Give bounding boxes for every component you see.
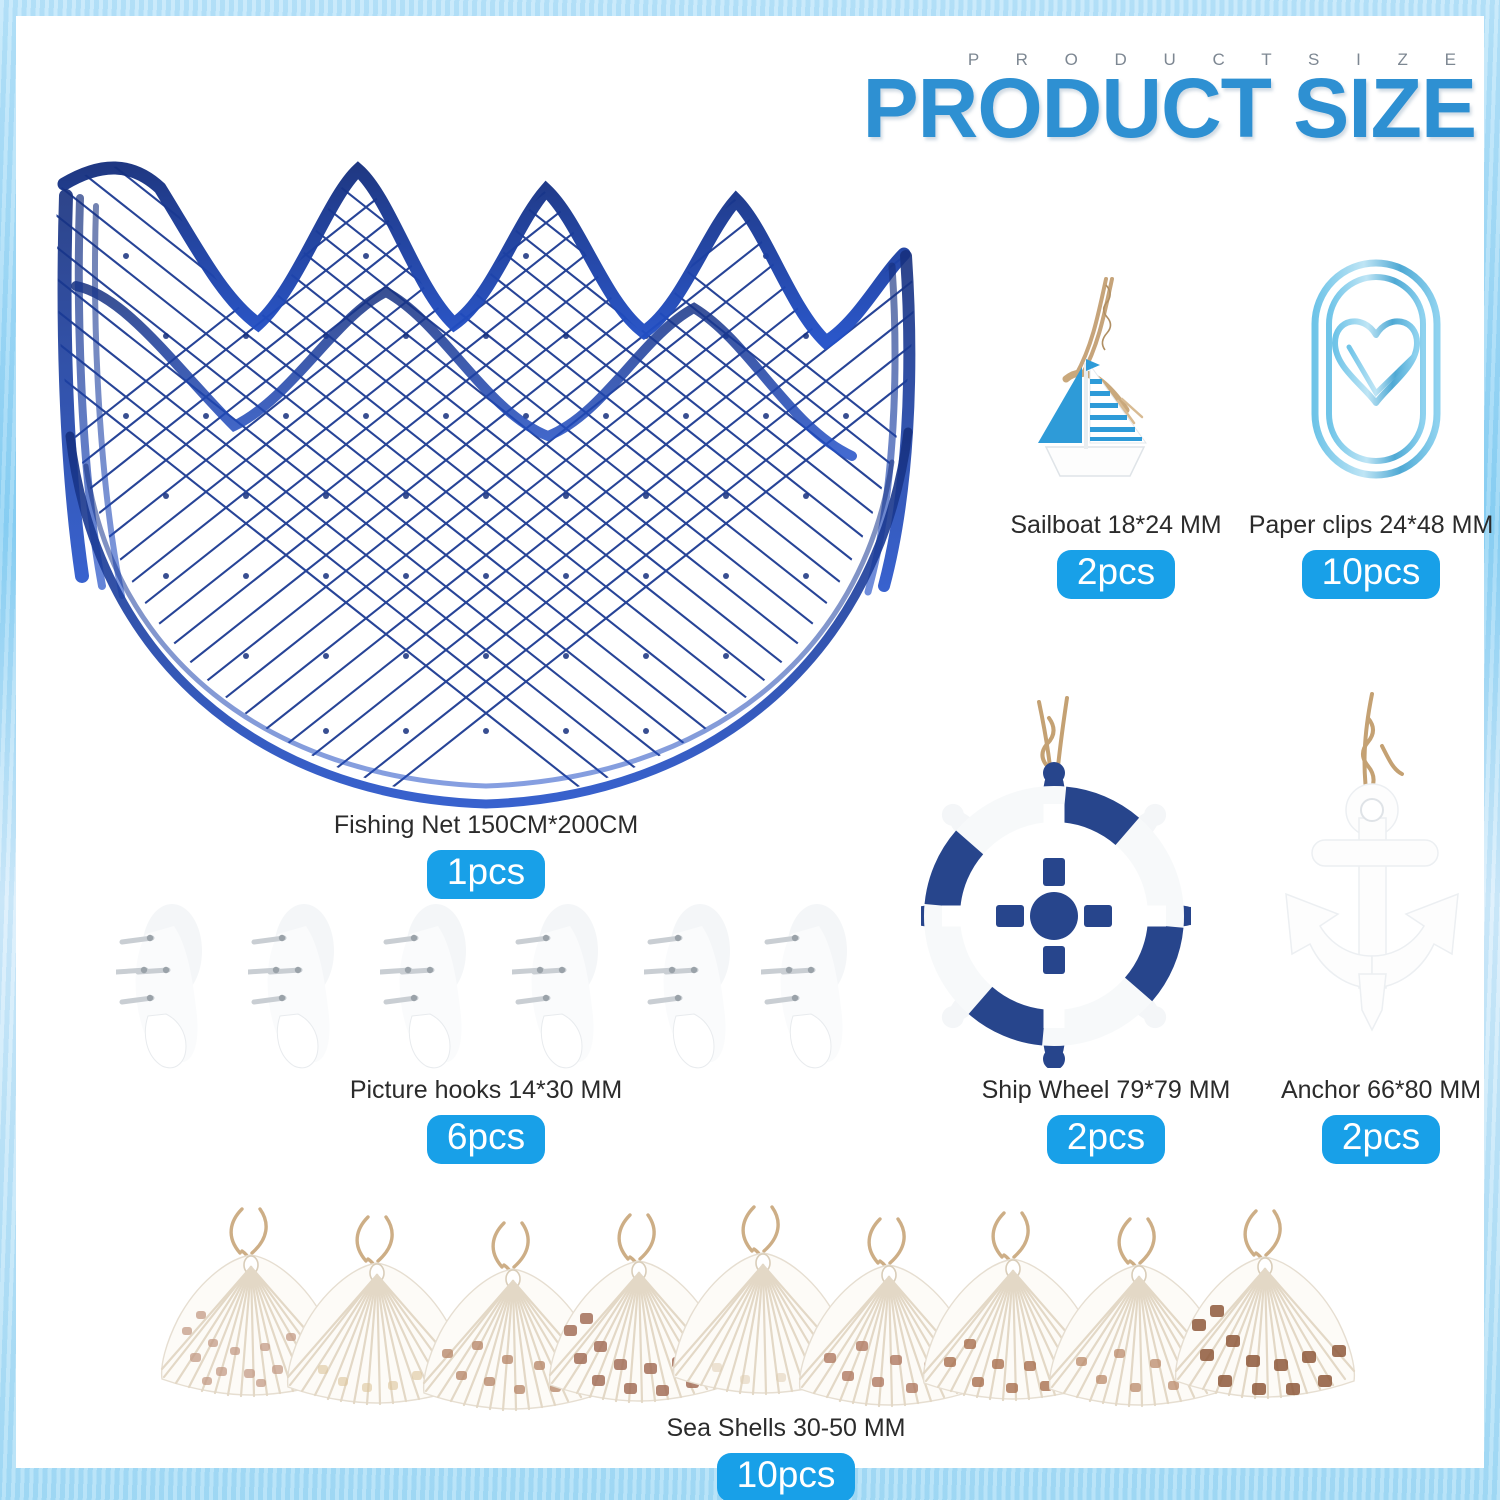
picture-hook-icon <box>116 896 211 1071</box>
sea-shells-group <box>156 1201 1376 1416</box>
picture-hook-icon <box>248 896 343 1071</box>
fishing-net-icon <box>56 136 916 816</box>
quantity-badge: 2pcs <box>1047 1115 1165 1164</box>
picture-hook-icon <box>512 896 607 1071</box>
product-label: Anchor 66*80 MM <box>1196 1076 1500 1105</box>
product-label: Fishing Net 150CM*200CM <box>266 811 706 840</box>
heart-paperclip-icon <box>1301 251 1451 486</box>
caption-paper-clips: Paper clips 24*48 MM 10pcs <box>1176 511 1500 599</box>
picture-hook-icon <box>380 896 475 1071</box>
white-canvas: P R O D U C T S I Z E PRODUCT SIZE <box>16 16 1484 1468</box>
quantity-badge: 10pcs <box>717 1453 856 1500</box>
product-size-infographic: P R O D U C T S I Z E PRODUCT SIZE <box>0 0 1500 1500</box>
sailboat-icon <box>1026 271 1196 501</box>
ship-wheel-icon <box>921 688 1191 1068</box>
caption-anchor: Anchor 66*80 MM 2pcs <box>1196 1076 1500 1164</box>
picture-hooks-group <box>116 896 916 1071</box>
product-label: Picture hooks 14*30 MM <box>271 1076 701 1105</box>
anchor-icon <box>1264 688 1494 1068</box>
product-label: Sea Shells 30-50 MM <box>576 1414 996 1443</box>
quantity-badge: 2pcs <box>1057 550 1175 599</box>
caption-sea-shells: Sea Shells 30-50 MM 10pcs <box>576 1414 996 1500</box>
picture-hook-icon <box>644 896 739 1071</box>
quantity-badge: 10pcs <box>1302 550 1441 599</box>
quantity-badge: 6pcs <box>427 1115 545 1164</box>
caption-fishing-net: Fishing Net 150CM*200CM 1pcs <box>266 811 706 899</box>
caption-picture-hooks: Picture hooks 14*30 MM 6pcs <box>271 1076 701 1164</box>
quantity-badge: 1pcs <box>427 850 545 899</box>
scallop-shell-icon <box>1176 1211 1355 1398</box>
picture-hook-icon <box>761 896 856 1071</box>
quantity-badge: 2pcs <box>1322 1115 1440 1164</box>
page-header: P R O D U C T S I Z E PRODUCT SIZE <box>786 50 1476 149</box>
product-label: Paper clips 24*48 MM <box>1176 511 1500 540</box>
